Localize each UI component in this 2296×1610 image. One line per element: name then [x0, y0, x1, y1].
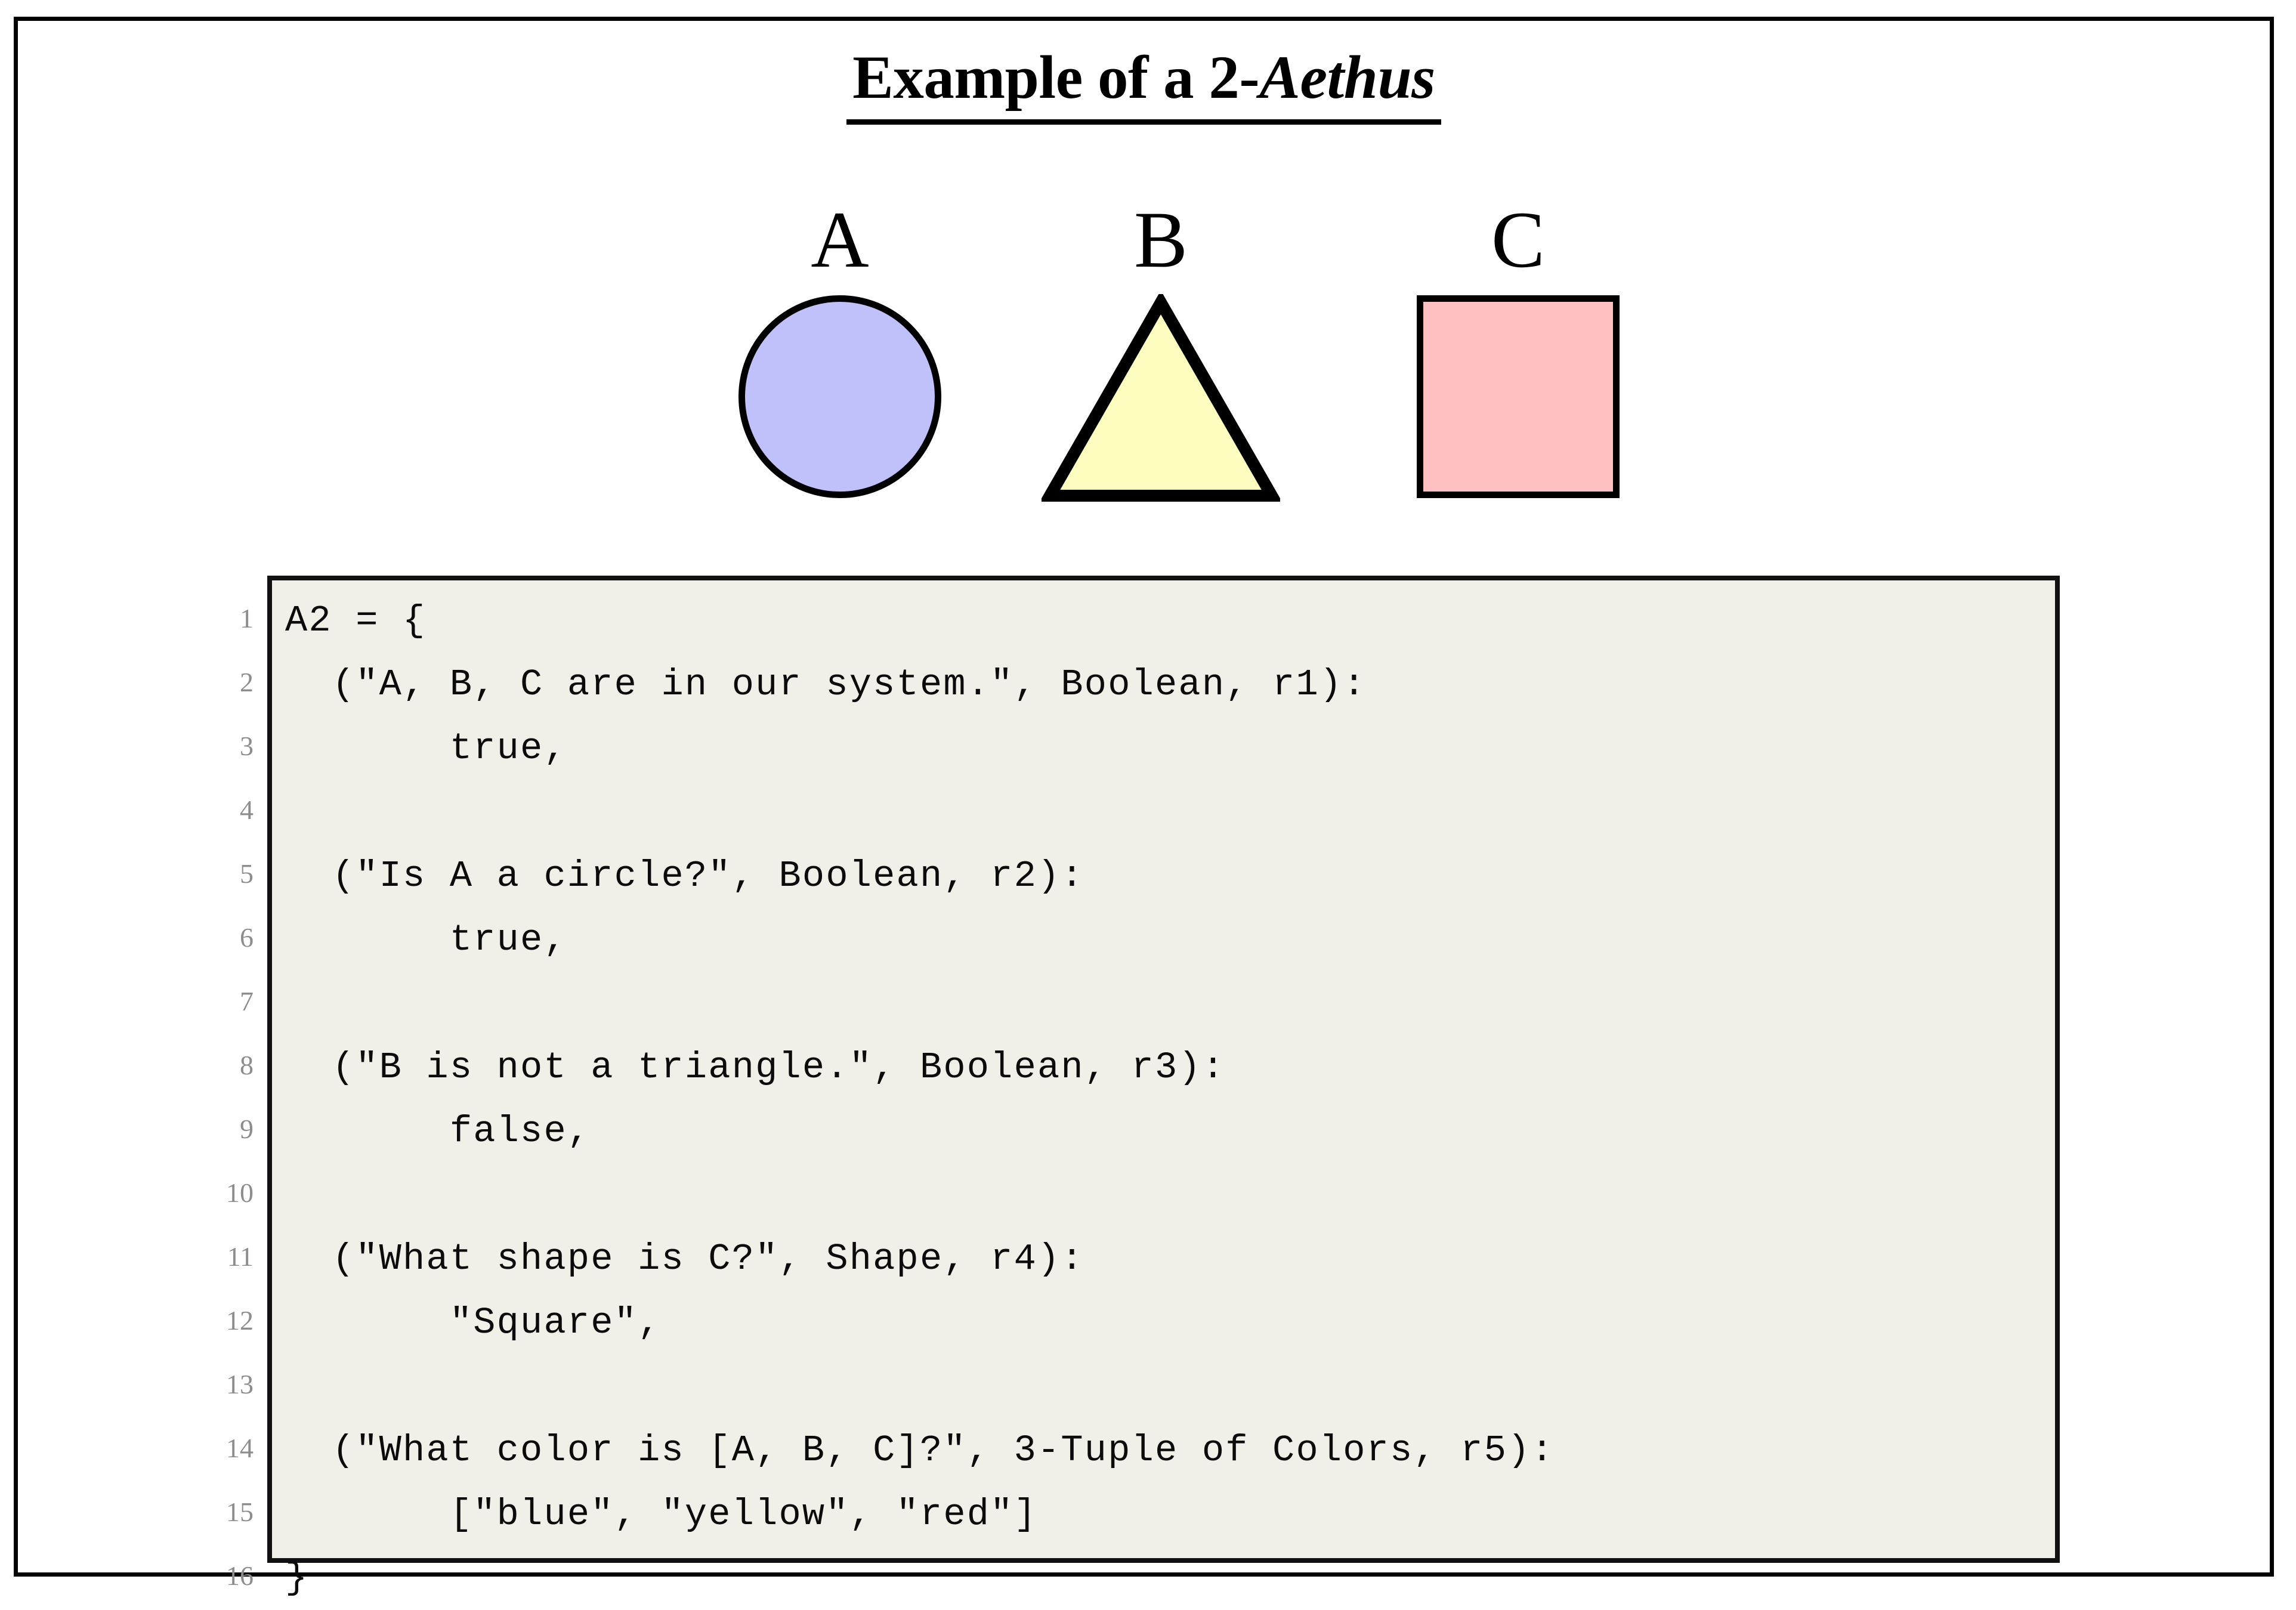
- line-number: 5: [197, 842, 254, 906]
- circle-shape: [738, 295, 941, 498]
- shape-holder-a: [721, 289, 959, 504]
- title-block: Example of a 2-Aethus: [18, 45, 2270, 125]
- line-number: 8: [197, 1033, 254, 1097]
- line-number: 4: [197, 778, 254, 842]
- shape-label-c: C: [1399, 200, 1637, 289]
- line-number: 14: [197, 1416, 254, 1480]
- code-listing: 12345678910111213141516 A2 = { ("A, B, C…: [197, 576, 2082, 1572]
- title-emphasis: Aethus: [1259, 44, 1435, 112]
- line-number: 2: [197, 650, 254, 714]
- line-number-gutter: 12345678910111213141516: [197, 586, 254, 1608]
- line-number: 12: [197, 1288, 254, 1352]
- shape-group-b: B: [1042, 200, 1280, 504]
- triangle-shape: [1042, 294, 1280, 504]
- code-content: A2 = { ("A, B, C are in our system.", Bo…: [285, 589, 1555, 1610]
- page-title: Example of a 2-Aethus: [846, 45, 1441, 125]
- line-number: 16: [197, 1544, 254, 1608]
- line-number: 15: [197, 1480, 254, 1544]
- line-number: 9: [197, 1097, 254, 1161]
- shape-group-c: C: [1399, 200, 1637, 504]
- line-number: 13: [197, 1352, 254, 1416]
- shapes-row: A B C: [692, 200, 1646, 534]
- square-shape: [1417, 295, 1620, 498]
- line-number: 3: [197, 714, 254, 778]
- line-number: 10: [197, 1161, 254, 1225]
- shape-group-a: A: [721, 200, 959, 504]
- code-block: A2 = { ("A, B, C are in our system.", Bo…: [267, 576, 2060, 1563]
- shape-label-a: A: [721, 200, 959, 289]
- title-prefix: Example of a 2-: [852, 44, 1259, 112]
- shape-holder-b: [1042, 289, 1280, 504]
- line-number: 1: [197, 586, 254, 650]
- shape-holder-c: [1399, 289, 1637, 504]
- shape-label-b: B: [1042, 200, 1280, 289]
- line-number: 11: [197, 1225, 254, 1288]
- line-number: 6: [197, 906, 254, 969]
- figure-frame: Example of a 2-Aethus A B C 123456789101…: [14, 17, 2274, 1577]
- line-number: 7: [197, 969, 254, 1033]
